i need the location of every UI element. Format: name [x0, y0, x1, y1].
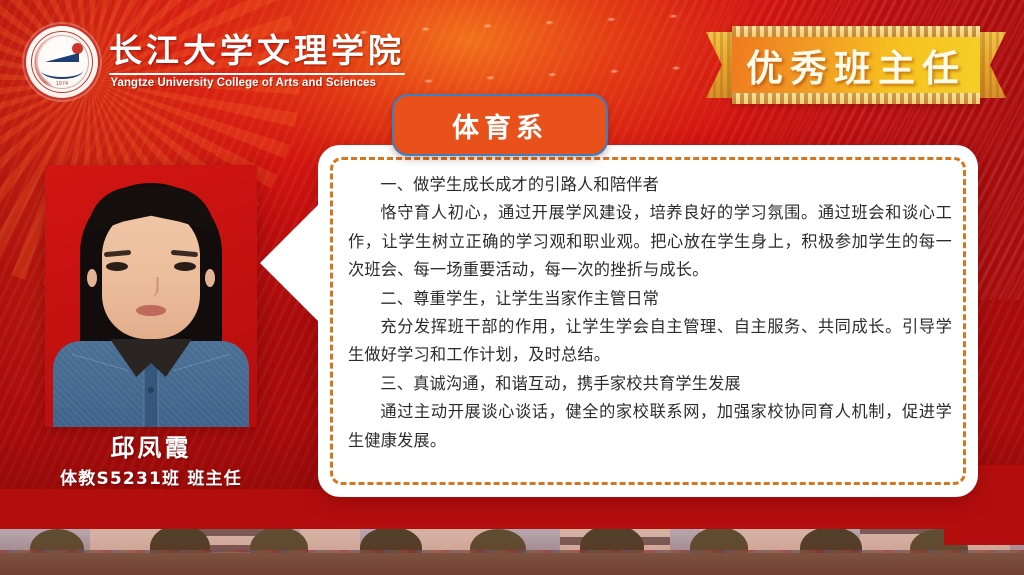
university-name-rule	[109, 73, 405, 75]
emblem-year: 1974	[26, 81, 98, 87]
department-label: 体育系	[452, 106, 548, 145]
portrait-shirt-button	[148, 387, 154, 393]
portrait-denim-shirt	[53, 341, 249, 427]
university-name-en: Yangtze University College of Arts and S…	[110, 78, 403, 90]
ribbon-edge-bottom-pattern	[732, 93, 980, 104]
teacher-portrait	[45, 165, 257, 427]
university-name-block: 长江大学文理学院 Yangtze University College of A…	[109, 34, 405, 89]
section-body: 恪守育人初心，通过开展学风建设，培养良好的学习氛围。通过班会和谈心工作，让学生树…	[348, 199, 952, 284]
department-badge: 体育系	[392, 94, 608, 156]
award-title: 优秀班主任	[732, 37, 980, 93]
content-card: 一、做学生成长成才的引路人和陪伴者 恪守育人初心，通过开展学风建设，培养良好的学…	[318, 145, 978, 497]
section-heading: 二、尊重学生，让学生当家作主管日常	[348, 285, 952, 313]
portrait-mouth	[136, 305, 166, 316]
university-name-cn: 长江大学文理学院	[109, 34, 405, 69]
section-body: 充分发挥班干部的作用，让学生学会自主管理、自主服务、共同成长。引导学生做好学习和…	[348, 313, 952, 370]
portrait-eye-left	[106, 262, 128, 271]
portrait-nose	[144, 277, 159, 297]
university-emblem-icon: 1974	[26, 26, 98, 98]
portrait-ear-right	[205, 269, 215, 287]
card-text-body: 一、做学生成长成才的引路人和陪伴者 恪守育人初心，通过开展学风建设，培养良好的学…	[348, 171, 952, 475]
teacher-role: 体教S5231班 班主任	[20, 464, 282, 489]
section-heading: 一、做学生成长成才的引路人和陪伴者	[348, 171, 952, 199]
section-body: 通过主动开展谈心谈话，健全的家校联系网，加强家校协同育人机制，促进学生健康发展。	[348, 398, 952, 455]
portrait-face	[102, 207, 200, 339]
university-logo: 1974 长江大学文理学院 Yangtze University College…	[26, 26, 405, 98]
portrait-ear-left	[87, 269, 97, 287]
teacher-name: 邱凤霞	[45, 428, 257, 463]
emblem-boat-icon	[41, 62, 83, 79]
emblem-sun-icon	[72, 43, 83, 54]
award-poster: 1974 长江大学文理学院 Yangtze University College…	[0, 0, 1024, 575]
ribbon-edge-top-pattern	[732, 26, 980, 37]
portrait-eye-right	[174, 262, 196, 271]
award-ribbon: 优秀班主任	[706, 26, 1006, 104]
section-heading: 三、真诚沟通，和谐互动，携手家校共育学生发展	[348, 370, 952, 398]
